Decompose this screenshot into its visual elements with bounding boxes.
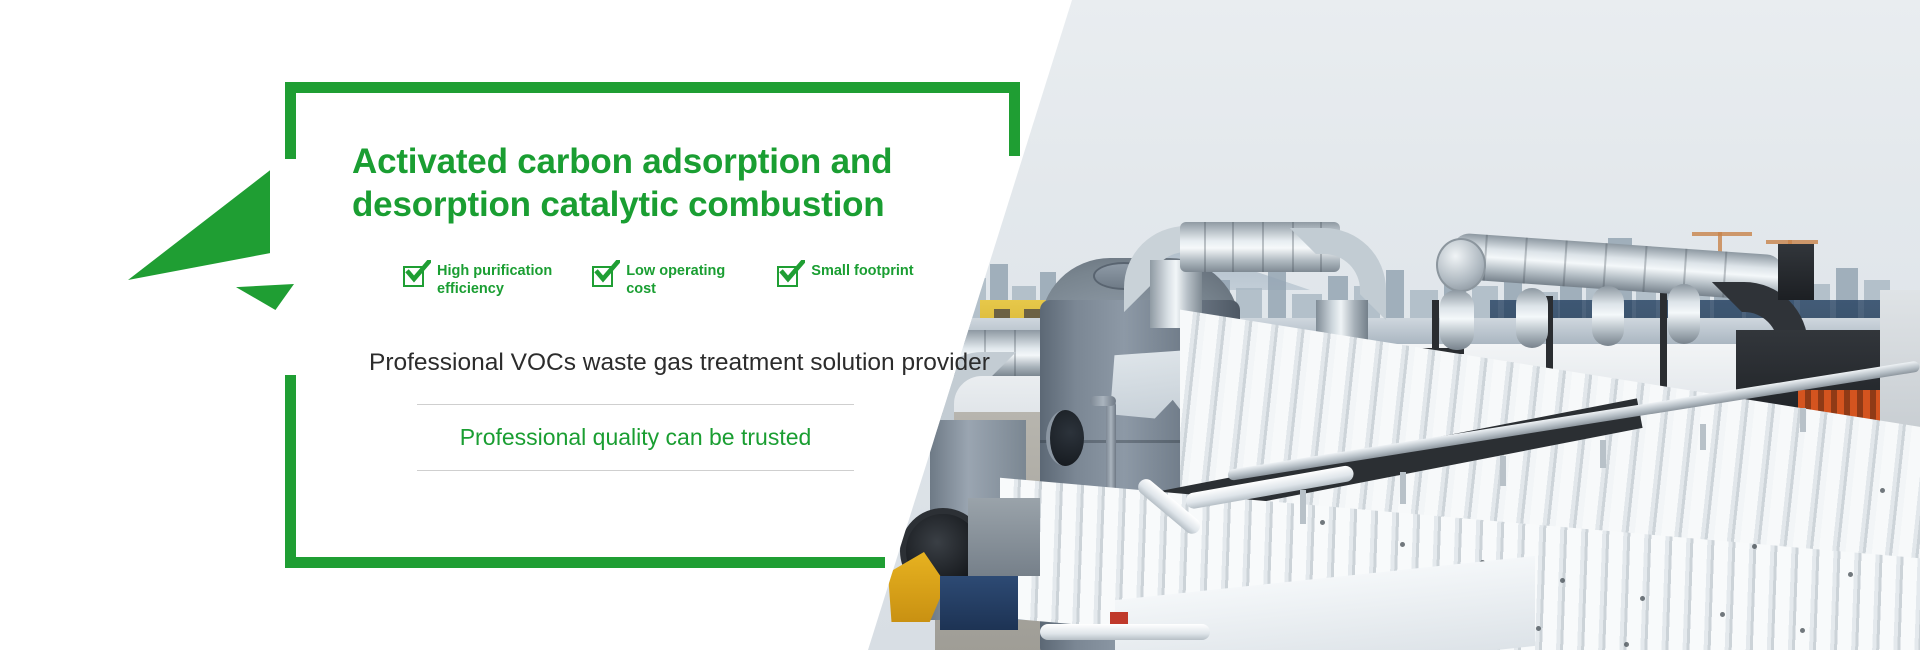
decorative-triangle-large [128, 168, 270, 280]
promo-banner: Activated carbon adsorption and desorpti… [0, 0, 1920, 650]
feature-item-low-operating-cost: Low operating cost [592, 262, 725, 299]
feature-label: Low operating cost [626, 262, 725, 299]
duct-end-cap [1436, 238, 1486, 292]
tower-port-upper [1046, 410, 1084, 466]
decorative-triangle-small [236, 284, 294, 310]
duct-branch-4 [1668, 284, 1700, 344]
frame-border-right-upper [1009, 82, 1020, 156]
page-title: Activated carbon adsorption and desorpti… [352, 140, 992, 227]
subtagline: Professional quality can be trusted [417, 424, 854, 451]
divider-top [417, 404, 854, 405]
feature-label: High purification efficiency [437, 262, 552, 299]
tower-nozzle [1090, 396, 1116, 406]
blue-skid [940, 576, 1018, 630]
frame-border-bottom [285, 557, 885, 568]
checkbox-check-icon [592, 263, 617, 288]
checkbox-check-icon [777, 263, 802, 288]
feature-item-high-purification-efficiency: High purification efficiency [403, 262, 552, 299]
feature-label: Small footprint [811, 262, 913, 280]
frame-border-top [285, 82, 1020, 93]
duct-branch-2 [1516, 288, 1548, 348]
red-fitting [1110, 612, 1128, 624]
feature-list: High purification efficiency Low operati… [403, 262, 914, 299]
checkbox-check-icon [403, 263, 428, 288]
stack-block [1778, 244, 1814, 300]
tagline: Professional VOCs waste gas treatment so… [369, 349, 990, 377]
duct-branch-3 [1592, 286, 1624, 346]
rail-post-5 [1700, 424, 1706, 450]
feature-item-small-footprint: Small footprint [777, 262, 913, 288]
rail-post-4 [1600, 440, 1606, 468]
frame-border-left-lower [285, 375, 296, 568]
divider-bottom [417, 470, 854, 471]
foreground-white-pipe [1040, 624, 1210, 640]
rail-post-2 [1400, 472, 1406, 504]
rail-post-6 [1800, 408, 1806, 432]
rail-post-1 [1300, 490, 1306, 524]
gray-skid [968, 498, 1040, 576]
duct-branch-1 [1440, 290, 1474, 350]
rail-post-3 [1500, 456, 1506, 486]
frame-border-left-upper [285, 82, 296, 159]
